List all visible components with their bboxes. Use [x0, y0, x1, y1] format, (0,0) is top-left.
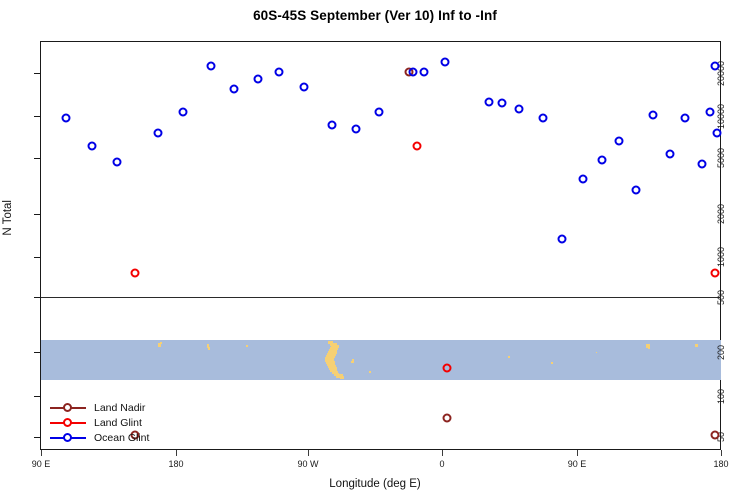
data-point-ocean-glint[interactable] — [112, 158, 121, 167]
land-mask — [695, 344, 698, 347]
y-tick-mark — [34, 437, 40, 438]
legend-label-land-glint: Land Glint — [94, 417, 142, 429]
data-point-ocean-glint[interactable] — [681, 114, 690, 123]
x-tick-label: 90 W — [297, 459, 318, 469]
land-glint-symbol — [50, 417, 86, 429]
data-point-ocean-glint[interactable] — [615, 137, 624, 146]
ocean-glint-symbol — [50, 432, 86, 444]
data-point-ocean-glint[interactable] — [327, 121, 336, 130]
data-point-ocean-glint[interactable] — [409, 67, 418, 76]
data-point-ocean-glint[interactable] — [375, 108, 384, 117]
land-mask — [208, 347, 210, 350]
data-point-ocean-glint[interactable] — [711, 61, 720, 70]
y-tick-label: 1000 — [716, 239, 750, 275]
data-point-ocean-glint[interactable] — [275, 67, 284, 76]
x-tick-mark — [41, 450, 42, 456]
y-tick-label: 100 — [716, 378, 750, 414]
data-point-ocean-glint[interactable] — [713, 128, 722, 137]
y-tick-mark — [34, 158, 40, 159]
legend-label-ocean-glint: Ocean Glint — [94, 432, 149, 444]
legend: Land Nadir Land Glint Ocean Glint — [50, 400, 149, 445]
data-point-ocean-glint[interactable] — [61, 114, 70, 123]
y-tick-mark — [34, 257, 40, 258]
data-point-ocean-glint[interactable] — [666, 149, 675, 158]
data-point-ocean-glint[interactable] — [352, 124, 361, 133]
y-tick-mark — [34, 352, 40, 353]
land-mask — [160, 342, 162, 344]
data-point-land-glint[interactable] — [443, 364, 452, 373]
y-tick-label: 500 — [716, 279, 750, 315]
data-point-ocean-glint[interactable] — [539, 114, 548, 123]
data-point-ocean-glint[interactable] — [632, 186, 641, 195]
legend-item-ocean-glint[interactable]: Ocean Glint — [50, 430, 149, 445]
threshold-line-500 — [41, 297, 721, 298]
y-tick-mark — [34, 214, 40, 215]
data-point-ocean-glint[interactable] — [497, 98, 506, 107]
y-tick-label: 2000 — [716, 196, 750, 232]
y-axis-title: N Total — [2, 200, 14, 236]
ocean-band — [41, 340, 721, 380]
data-point-ocean-glint[interactable] — [649, 111, 658, 120]
data-point-ocean-glint[interactable] — [698, 159, 707, 168]
data-point-land-nadir[interactable] — [711, 430, 720, 439]
land-mask — [648, 347, 650, 349]
x-tick-mark — [176, 450, 177, 456]
data-point-ocean-glint[interactable] — [420, 67, 429, 76]
legend-item-land-glint[interactable]: Land Glint — [50, 415, 149, 430]
x-tick-label: 180 — [713, 459, 728, 469]
data-point-land-glint[interactable] — [412, 142, 421, 151]
land-mask — [551, 362, 553, 364]
data-point-ocean-glint[interactable] — [299, 82, 308, 91]
y-tick-mark — [34, 116, 40, 117]
x-tick-mark — [442, 450, 443, 456]
plot-frame — [40, 41, 721, 450]
data-point-ocean-glint[interactable] — [705, 108, 714, 117]
land-nadir-symbol — [50, 402, 86, 414]
x-tick-mark — [308, 450, 309, 456]
x-tick-label: 0 — [439, 459, 444, 469]
data-point-ocean-glint[interactable] — [207, 61, 216, 70]
land-mask — [596, 352, 597, 353]
data-point-ocean-glint[interactable] — [229, 84, 238, 93]
data-point-land-nadir[interactable] — [443, 414, 452, 423]
y-tick-mark — [34, 396, 40, 397]
data-point-ocean-glint[interactable] — [441, 57, 450, 66]
legend-item-land-nadir[interactable]: Land Nadir — [50, 400, 149, 415]
land-mask — [246, 345, 248, 347]
data-point-ocean-glint[interactable] — [254, 75, 263, 84]
data-point-ocean-glint[interactable] — [88, 142, 97, 151]
data-point-ocean-glint[interactable] — [178, 108, 187, 117]
land-mask — [351, 361, 354, 363]
page-title: 60S-45S September (Ver 10) Inf to -Inf — [0, 8, 750, 23]
x-axis-title: Longitude (deg E) — [0, 478, 750, 490]
land-mask — [352, 359, 354, 361]
data-point-land-glint[interactable] — [711, 268, 720, 277]
legend-label-land-nadir: Land Nadir — [94, 402, 145, 414]
data-point-ocean-glint[interactable] — [514, 105, 523, 114]
y-tick-label: 5000 — [716, 140, 750, 176]
x-tick-mark — [721, 450, 722, 456]
x-tick-label: 180 — [168, 459, 183, 469]
y-tick-mark — [34, 297, 40, 298]
data-point-land-glint[interactable] — [131, 268, 140, 277]
y-tick-label: 20000 — [716, 55, 750, 91]
y-tick-mark — [34, 73, 40, 74]
data-point-ocean-glint[interactable] — [598, 155, 607, 164]
land-mask — [369, 371, 371, 373]
land-mask — [340, 376, 344, 379]
data-point-ocean-glint[interactable] — [579, 174, 588, 183]
x-tick-mark — [577, 450, 578, 456]
data-point-ocean-glint[interactable] — [154, 128, 163, 137]
x-tick-label: 90 E — [32, 459, 51, 469]
data-point-ocean-glint[interactable] — [558, 235, 567, 244]
plot-canvas: 60S-45S September (Ver 10) Inf to -Inf N… — [0, 0, 750, 500]
data-point-ocean-glint[interactable] — [484, 97, 493, 106]
y-tick-label: 10000 — [716, 98, 750, 134]
land-mask — [508, 356, 510, 358]
x-tick-label: 90 E — [568, 459, 587, 469]
y-tick-label: 200 — [716, 334, 750, 370]
